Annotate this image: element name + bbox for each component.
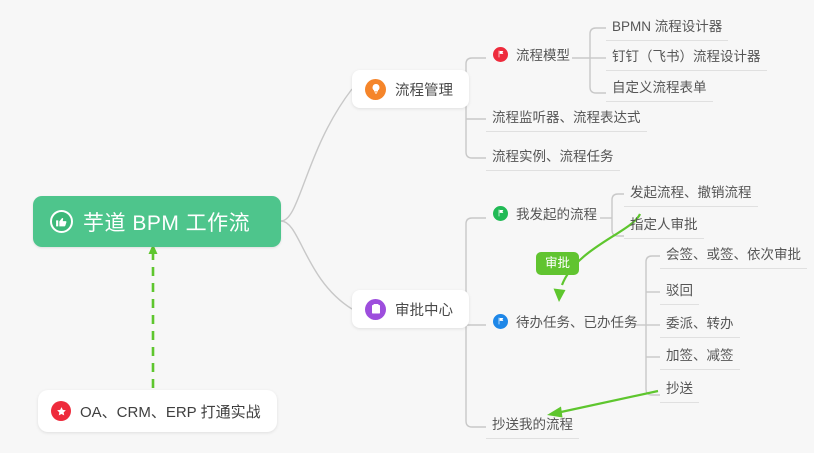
- leaf-bpmn-designer[interactable]: BPMN 流程设计器: [606, 13, 728, 41]
- leaf-flow-instance-task[interactable]: 流程实例、流程任务: [486, 143, 620, 171]
- bottom-card-label: OA、CRM、ERP 打通实战: [80, 401, 261, 422]
- sub-node-label-todo-done-tasks: 待办任务、已办任务: [516, 311, 638, 331]
- bottom-card-oa[interactable]: OA、CRM、ERP 打通实战: [38, 390, 277, 432]
- leaf-add-remove-sign[interactable]: 加签、减签: [660, 342, 740, 370]
- leaf-dingtalk-designer[interactable]: 钉钉（飞书）流程设计器: [606, 43, 767, 71]
- clipboard-icon: [365, 299, 386, 320]
- mindmap-canvas: 芋道 BPM 工作流 OA、CRM、ERP 打通实战 流程管理 审批中心: [0, 0, 814, 453]
- star-icon: [51, 401, 71, 421]
- leaf-countersign[interactable]: 会签、或签、依次审批: [660, 241, 807, 269]
- sub-node-label-my-started-flows: 我发起的流程: [516, 203, 597, 223]
- lightbulb-icon: [365, 79, 386, 100]
- leaf-flow-listener-expr[interactable]: 流程监听器、流程表达式: [486, 104, 647, 132]
- sub-node-todo-done-tasks[interactable]: 待办任务、已办任务: [493, 311, 638, 331]
- branch-node-approval-center[interactable]: 审批中心: [352, 290, 469, 328]
- thumbs-up-icon: [50, 210, 73, 233]
- leaf-cc-my-flows[interactable]: 抄送我的流程: [486, 411, 579, 439]
- leaf-reject[interactable]: 驳回: [660, 277, 699, 305]
- branch-node-flow-management[interactable]: 流程管理: [352, 70, 469, 108]
- root-node[interactable]: 芋道 BPM 工作流: [33, 196, 281, 247]
- leaf-assigned-approval[interactable]: 指定人审批: [624, 211, 704, 239]
- leaf-delegate-transfer[interactable]: 委派、转办: [660, 310, 740, 338]
- sub-node-flow-model[interactable]: 流程模型: [493, 44, 570, 64]
- flag-icon: [493, 47, 508, 62]
- leaf-custom-form[interactable]: 自定义流程表单: [606, 74, 713, 102]
- oa-to-root-arrow: [149, 244, 158, 388]
- leaf-start-cancel-flow[interactable]: 发起流程、撤销流程: [624, 179, 758, 207]
- flag-icon: [493, 314, 508, 329]
- sub-node-label-flow-model: 流程模型: [516, 44, 570, 64]
- leaf-cc[interactable]: 抄送: [660, 375, 699, 403]
- flag-icon: [493, 206, 508, 221]
- annotation-approval-badge: 审批: [536, 252, 579, 275]
- branch-label-approval-center: 审批中心: [395, 299, 453, 320]
- sub-node-my-started-flows[interactable]: 我发起的流程: [493, 203, 597, 223]
- root-label: 芋道 BPM 工作流: [83, 207, 250, 237]
- branch-label-flow-management: 流程管理: [395, 79, 453, 100]
